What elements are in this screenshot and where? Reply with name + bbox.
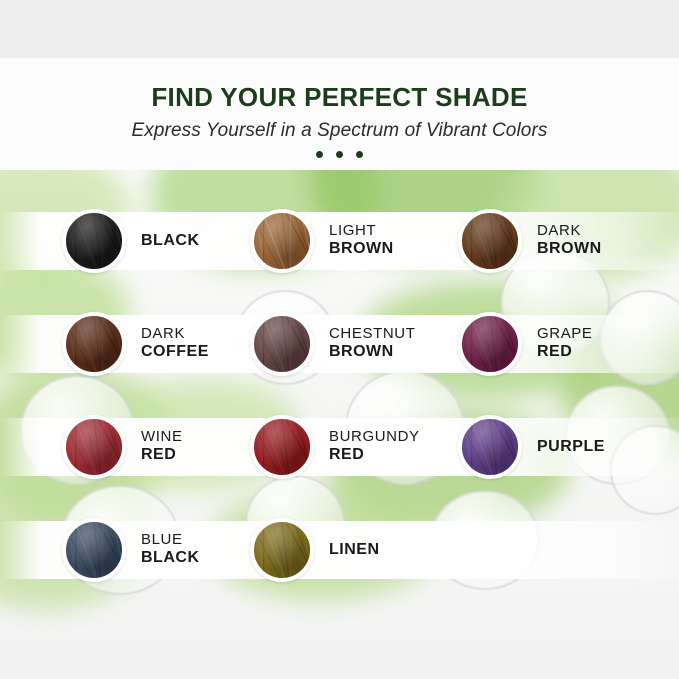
shade-label-line1: BLACK: [141, 232, 200, 250]
shade-item-grape-red[interactable]: GRAPERED: [458, 312, 593, 376]
shade-label-linen: LINEN: [329, 541, 380, 559]
swatch-sheen: [254, 419, 310, 475]
shade-item-wine-red[interactable]: WINERED: [62, 415, 183, 479]
shade-label-line1: WINE: [141, 429, 183, 446]
shade-label-purple: PURPLE: [537, 438, 605, 456]
shade-label-grape-red: GRAPERED: [537, 326, 593, 361]
divider-dot-icon: [336, 151, 343, 158]
shade-label-line1: BURGUNDY: [329, 429, 420, 446]
top-band: [0, 0, 679, 58]
header: FIND YOUR PERFECT SHADE Express Yourself…: [0, 58, 679, 170]
shade-label-line2: RED: [537, 343, 593, 361]
shade-label-line2: BLACK: [141, 549, 200, 567]
shade-swatch-linen[interactable]: [250, 518, 314, 582]
swatch-sheen: [462, 213, 518, 269]
shade-swatch-burgundy-red[interactable]: [250, 415, 314, 479]
swatch-sheen: [66, 419, 122, 475]
swatch-sheen: [254, 213, 310, 269]
shade-label-light-brown: LIGHTBROWN: [329, 223, 394, 258]
shade-item-dark-brown[interactable]: DARKBROWN: [458, 209, 602, 273]
shade-item-burgundy-red[interactable]: BURGUNDYRED: [250, 415, 420, 479]
swatch-sheen: [254, 316, 310, 372]
shade-label-line1: LINEN: [329, 541, 380, 559]
shade-swatch-black[interactable]: [62, 209, 126, 273]
dot-divider: [0, 151, 679, 158]
shade-item-black[interactable]: BLACK: [62, 209, 200, 273]
shade-label-line2: BROWN: [537, 240, 602, 258]
shade-label-line2: BROWN: [329, 343, 415, 361]
divider-dot-icon: [356, 151, 363, 158]
shade-label-dark-brown: DARKBROWN: [537, 223, 602, 258]
shade-label-line2: BROWN: [329, 240, 394, 258]
shade-label-burgundy-red: BURGUNDYRED: [329, 429, 420, 464]
page-subtitle: Express Yourself in a Spectrum of Vibran…: [0, 120, 679, 142]
shade-item-blue-black[interactable]: BLUEBLACK: [62, 518, 200, 582]
swatch-sheen: [254, 522, 310, 578]
shade-label-dark-coffee: DARKCOFFEE: [141, 326, 209, 361]
shade-swatch-dark-brown[interactable]: [458, 209, 522, 273]
shade-label-blue-black: BLUEBLACK: [141, 532, 200, 567]
shade-label-line1: CHESTNUT: [329, 326, 415, 343]
shade-item-chestnut-brown[interactable]: CHESTNUTBROWN: [250, 312, 415, 376]
shade-swatch-light-brown[interactable]: [250, 209, 314, 273]
shade-swatch-dark-coffee[interactable]: [62, 312, 126, 376]
shade-label-line2: RED: [329, 446, 420, 464]
shade-item-light-brown[interactable]: LIGHTBROWN: [250, 209, 394, 273]
shade-label-line1: DARK: [537, 223, 602, 240]
shade-label-line1: BLUE: [141, 532, 200, 549]
swatch-sheen: [66, 522, 122, 578]
swatch-sheen: [462, 316, 518, 372]
shade-chart-page: FIND YOUR PERFECT SHADE Express Yourself…: [0, 0, 679, 679]
page-title: FIND YOUR PERFECT SHADE: [0, 82, 679, 113]
shade-label-line1: GRAPE: [537, 326, 593, 343]
shade-swatch-blue-black[interactable]: [62, 518, 126, 582]
shade-label-line2: COFFEE: [141, 343, 209, 361]
shade-label-wine-red: WINERED: [141, 429, 183, 464]
swatch-sheen: [66, 213, 122, 269]
swatch-sheen: [66, 316, 122, 372]
divider-dot-icon: [316, 151, 323, 158]
shade-item-dark-coffee[interactable]: DARKCOFFEE: [62, 312, 209, 376]
shade-swatch-chestnut-brown[interactable]: [250, 312, 314, 376]
shade-label-chestnut-brown: CHESTNUTBROWN: [329, 326, 415, 361]
shade-swatch-purple[interactable]: [458, 415, 522, 479]
shade-swatch-wine-red[interactable]: [62, 415, 126, 479]
shade-label-line1: LIGHT: [329, 223, 394, 240]
swatch-sheen: [462, 419, 518, 475]
shade-swatch-grape-red[interactable]: [458, 312, 522, 376]
shade-item-purple[interactable]: PURPLE: [458, 415, 605, 479]
shade-label-line2: RED: [141, 446, 183, 464]
bottom-band: [0, 641, 679, 679]
shade-label-black: BLACK: [141, 232, 200, 250]
shade-label-line1: PURPLE: [537, 438, 605, 456]
shade-label-line1: DARK: [141, 326, 209, 343]
shade-item-linen[interactable]: LINEN: [250, 518, 380, 582]
